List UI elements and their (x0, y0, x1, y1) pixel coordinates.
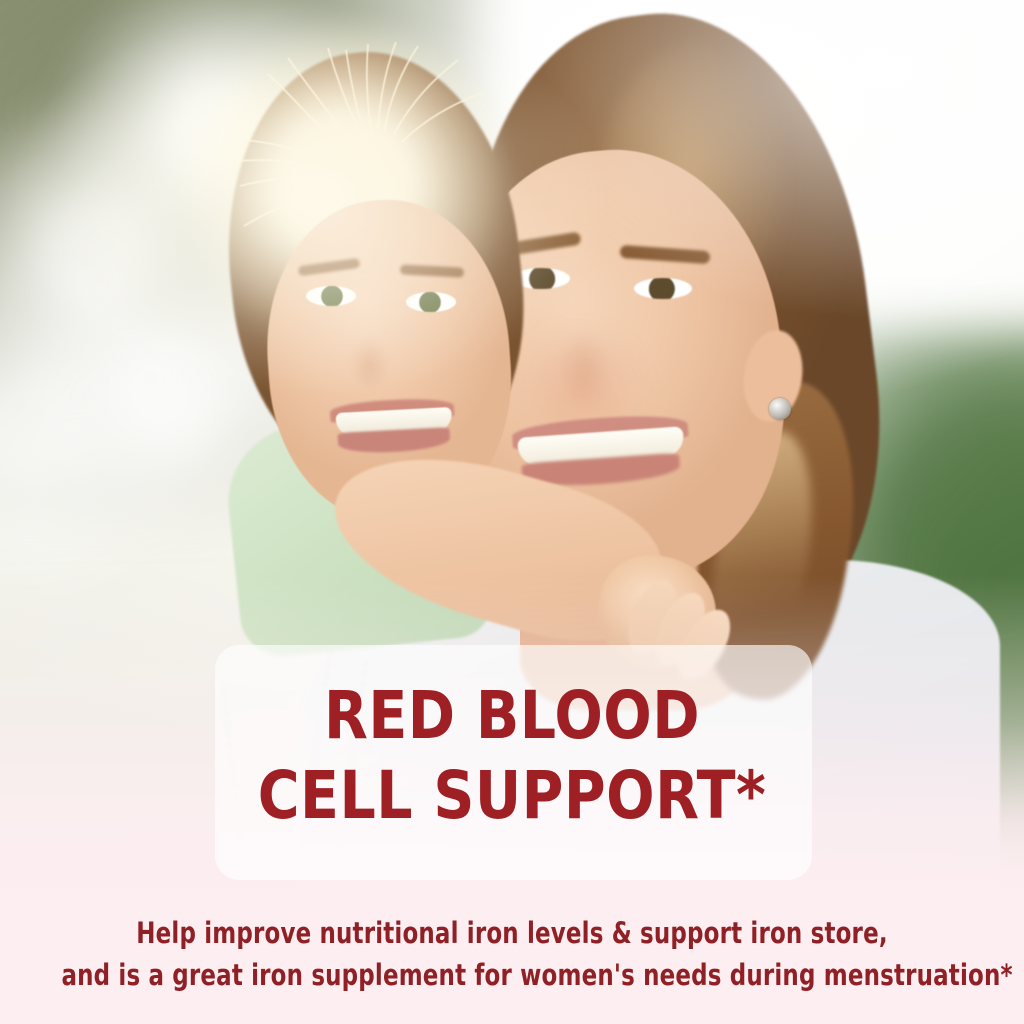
child-nose (350, 326, 396, 388)
child-eye-left (306, 286, 356, 306)
headline-line-2: CELL SUPPORT* (20, 756, 1003, 836)
woman-eye-right (634, 278, 692, 299)
woman-nose (560, 318, 620, 406)
product-marketing-banner: RED BLOOD CELL SUPPORT* Help improve nut… (0, 0, 1024, 1024)
subtitle-line-2: and is a great iron supplement for women… (61, 954, 962, 996)
woman-stud-earring (769, 398, 791, 420)
subtitle-line-1: Help improve nutritional iron levels & s… (61, 912, 962, 954)
child-eye-right (406, 292, 456, 312)
page-title: RED BLOOD CELL SUPPORT* (20, 676, 1003, 836)
subtitle: Help improve nutritional iron levels & s… (61, 912, 962, 996)
headline-line-1: RED BLOOD (20, 676, 1003, 756)
